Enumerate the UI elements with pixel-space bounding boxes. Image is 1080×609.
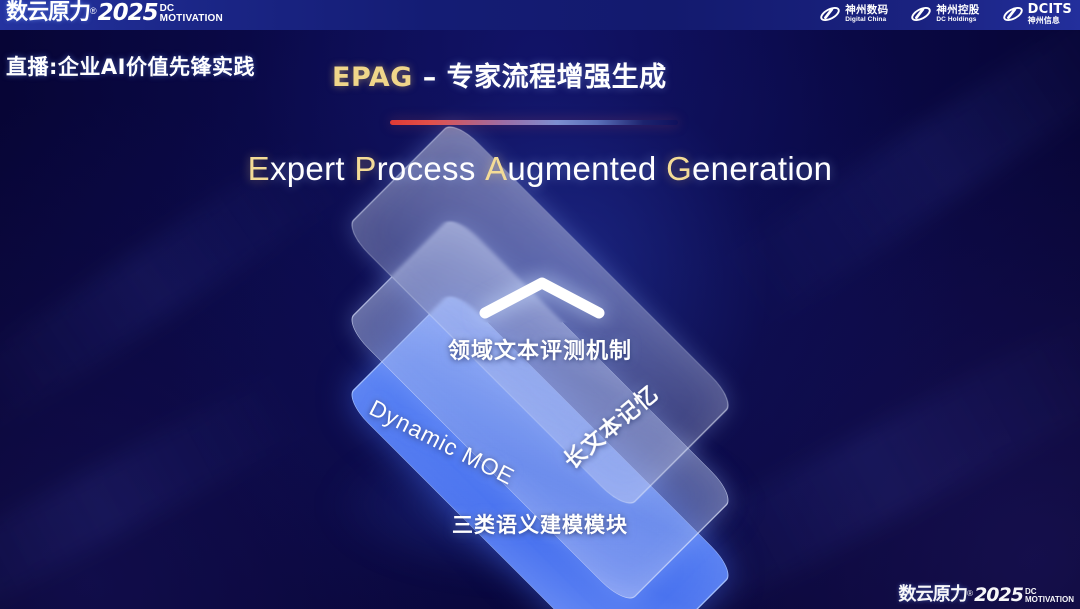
partner-logo-text: 神州控股 DC Holdings (936, 5, 979, 23)
partner-name-cn: 神州控股 (936, 5, 979, 16)
layer-label-bottom: 三类语义建模模块 (0, 509, 1080, 539)
expansion-rest-expert: xpert (270, 150, 345, 187)
title-chinese: – 专家流程增强生成 (413, 62, 667, 93)
layer-label-top: 领域文本评测机制 (0, 333, 1080, 365)
expansion-initial-a: A (485, 150, 507, 187)
slide-canvas: 数云原力 ® 2025 DC MOTIVATION 直播:企业AI价值先锋实践 … (0, 0, 1080, 609)
chevron-up-icon (477, 275, 607, 319)
swirl-logo-icon (1002, 3, 1024, 25)
swirl-logo-icon (910, 3, 932, 25)
expansion-space (345, 150, 354, 187)
acronym-expansion: Expert Process Augmented Generation (0, 150, 1080, 188)
watermark-registered-mark: ® (967, 587, 973, 600)
expansion-initial-g: G (666, 150, 692, 187)
expansion-initial-e: E (248, 150, 270, 187)
watermark-dc-motivation: DC MOTIVATION (1025, 588, 1074, 605)
partner-logo-text: DCITS 神州信息 (1028, 3, 1072, 25)
partner-logo-group: 神州数码 Digital China 神州控股 DC Holdings (819, 3, 1072, 25)
expansion-initial-p: P (354, 150, 376, 187)
partner-logo-text: 神州数码 Digital China (845, 5, 888, 23)
partner-logo-dcits: DCITS 神州信息 (1002, 3, 1072, 25)
title-acronym: EPAG (332, 62, 413, 93)
brand-logo-motivation: MOTIVATION (160, 14, 223, 24)
expansion-rest-augmented: ugmented (507, 150, 656, 187)
partner-name-cn: 神州数码 (845, 5, 888, 16)
brand-logo-year: 2025 (98, 1, 158, 25)
slide-title: EPAG – 专家流程增强生成 (332, 55, 667, 94)
partner-name-en: DC Holdings (936, 17, 979, 24)
partner-name-cn: DCITS (1028, 3, 1072, 16)
registered-mark: ® (90, 3, 97, 19)
expansion-space (657, 150, 666, 187)
livestream-subtitle: 直播:企业AI价值先锋实践 (6, 51, 255, 81)
watermark-cn: 数云原力 (898, 585, 967, 605)
corner-watermark-logo: 数云原力 ® 2025 DC MOTIVATION (898, 585, 1074, 605)
title-divider (390, 120, 678, 125)
partner-logo-digital-china: 神州数码 Digital China (819, 3, 888, 25)
watermark-motivation: MOTIVATION (1025, 596, 1074, 604)
brand-logo: 数云原力 ® 2025 DC MOTIVATION (6, 1, 223, 25)
brand-logo-dc-motivation: DC MOTIVATION (160, 4, 223, 25)
expansion-space (476, 150, 485, 187)
expansion-rest-process: rocess (377, 150, 476, 187)
partner-name-en: 神州信息 (1028, 17, 1072, 25)
brand-logo-cn: 数云原力 (6, 1, 90, 25)
partner-name-en: Digital China (845, 17, 888, 24)
expansion-rest-generation: eneration (692, 150, 832, 187)
swirl-logo-icon (819, 3, 841, 25)
watermark-year: 2025 (974, 585, 1023, 605)
partner-logo-dc-holdings: 神州控股 DC Holdings (910, 3, 979, 25)
